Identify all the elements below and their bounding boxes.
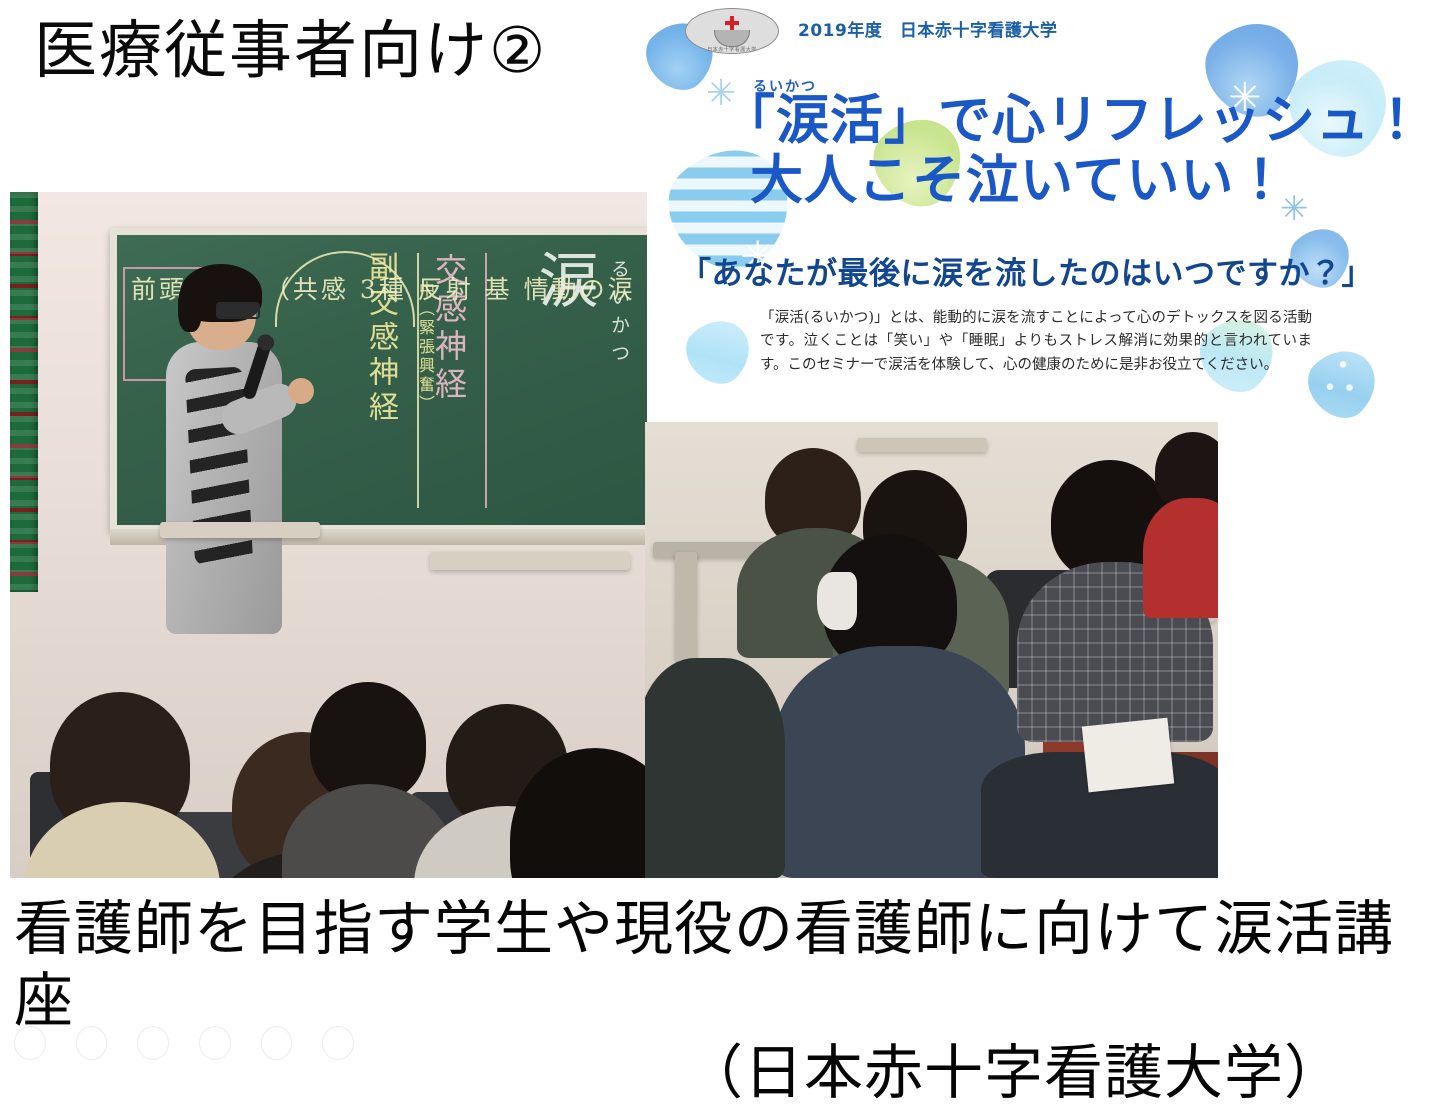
audience-person: [1143, 498, 1218, 618]
caption-line-1: 看護師を目指す学生や現役の看護師に向けて涙活講座: [0, 893, 1440, 1037]
classroom-desk: [857, 438, 987, 452]
slide-caption: 看護師を目指す学生や現役の看護師に向けて涙活講座 （日本赤十字看護大学）: [0, 893, 1440, 1109]
window-curtain: [10, 192, 38, 592]
poster-body-text: 「涙活(るいかつ)」とは、能動的に涙を流すことによって心のデトックスを図る活動で…: [760, 307, 1312, 377]
lecturer-figure: [160, 272, 288, 632]
classroom-desk: [430, 552, 630, 570]
ghost-icon: [199, 1026, 231, 1060]
water-drop-icon: [675, 307, 763, 395]
seminar-poster: ✳ ✳ ✳ ✳ 日本赤十字看護大学 2019年度 日本赤十字看護大学 るいかつ …: [620, 0, 1440, 430]
poster-title-line1: 「涙活」で心リフレッシュ！: [722, 92, 1424, 150]
ghost-icon: [261, 1026, 293, 1060]
poster-header-text: 2019年度 日本赤十字看護大学: [798, 16, 1057, 41]
university-seal-icon: 日本赤十字看護大学: [685, 8, 779, 54]
face-mask-icon: [817, 572, 857, 630]
seal-label: 日本赤十字看護大学: [685, 46, 779, 53]
audience-person: [645, 658, 785, 878]
lecturer-glasses: [216, 302, 260, 319]
classroom-desk: [160, 522, 320, 538]
ghost-icon: [14, 1026, 46, 1060]
classroom-desk: [675, 552, 697, 662]
lecture-photo: 涙 るいかつ 交感神経 副交感神経 中（緊張興奮） 前頭 前野 （共感 3種 反…: [10, 192, 647, 878]
poster-subtitle: 「あなたが最後に涙を流したのはいつですか？」: [680, 248, 1373, 293]
lecturer-hand: [288, 378, 314, 404]
red-cross-icon: [725, 16, 739, 30]
ghost-icon: [137, 1026, 169, 1060]
ghost-icon: [76, 1026, 108, 1060]
poster-title-line2: 大人こそ泣いていい！: [750, 152, 1288, 210]
handout-paper: [1082, 718, 1174, 793]
slide-root: 医療従事者向け② ✳ ✳ ✳ ✳ 日本赤十字看護大学 2019年度 日本赤十字看…: [0, 0, 1440, 1045]
lecturer-hair: [178, 284, 202, 332]
page-title: 医療従事者向け②: [34, 18, 547, 84]
ghost-icon: [322, 1026, 354, 1060]
audience-photo: [645, 422, 1218, 878]
